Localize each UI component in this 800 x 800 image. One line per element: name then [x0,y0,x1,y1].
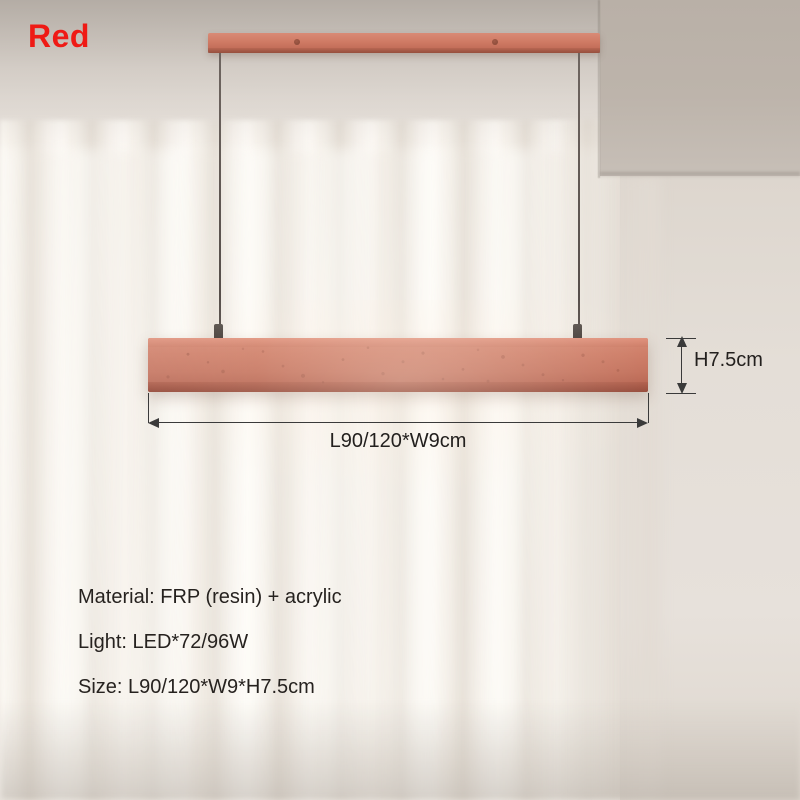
ceiling-corner [600,0,800,176]
suspension-cable-left [219,53,221,338]
spec-material: Material: FRP (resin) + acrylic [78,586,342,609]
width-arrow-left-icon [148,418,159,428]
floor-shadow [0,700,800,800]
width-tick-left [148,393,149,423]
height-dimension-label: H7.5cm [694,349,763,372]
width-dimension-line [152,422,644,423]
height-tick-bottom [666,393,696,394]
spec-size: Size: L90/120*W9*H7.5cm [78,676,315,699]
height-tick-top [666,338,696,339]
width-tick-right [648,393,649,423]
lamp-diffuser [148,382,648,392]
ceiling-canopy [208,33,600,53]
spec-light: Light: LED*72/96W [78,631,248,654]
wall-corner-line [598,0,600,178]
width-dimension-label: L90/120*W9cm [148,430,648,453]
canopy-screw [294,39,300,45]
color-variant-label: Red [28,18,90,55]
width-arrow-right-icon [637,418,648,428]
suspension-cable-right [578,53,580,338]
ceiling-edge [600,172,800,178]
canopy-screw [492,39,498,45]
lamp-body [148,338,648,392]
product-photo: L90/120*W9cm H7.5cm Red Material: FRP (r… [0,0,800,800]
